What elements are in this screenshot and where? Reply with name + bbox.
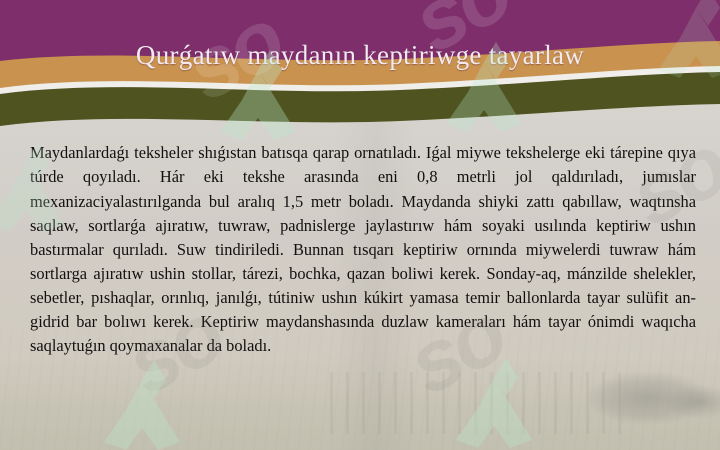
slide-title: Qurǵatıw maydanın keptiriwge tayarlaw bbox=[0, 40, 720, 71]
presentation-slide: Qurǵatıw maydanın keptiriwge tayarlaw Ma… bbox=[0, 0, 720, 450]
slide-body-text: Maydanlardaǵı teksheler shıǵıstan batısq… bbox=[30, 141, 696, 358]
